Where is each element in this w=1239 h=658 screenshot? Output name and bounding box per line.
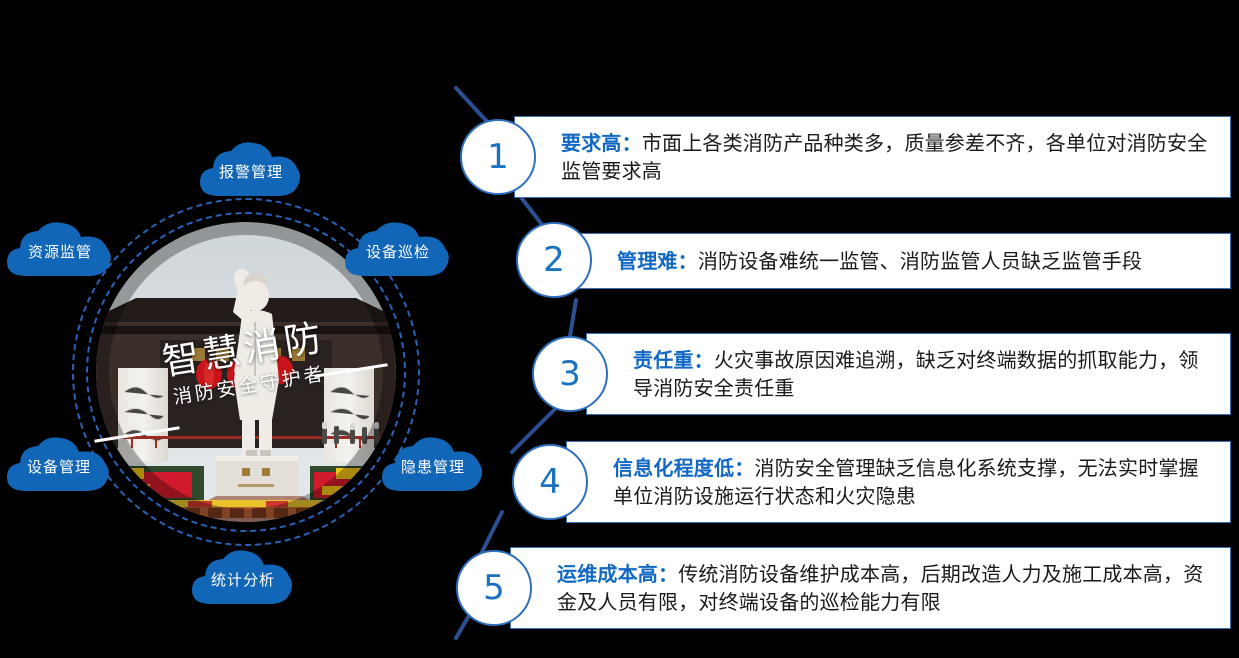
issue-bar[interactable]: 责任重：火灾事故原因难追溯，缺乏对终端数据的抓取能力，领导消防安全责任重 — [586, 333, 1231, 415]
issue-bar[interactable]: 运维成本高：传统消防设备维护成本高，后期改造人力及施工成本高，资金及人员有限，对… — [510, 547, 1231, 629]
issue-bar[interactable]: 信息化程度低：消防安全管理缺乏信息化系统支撑，无法实时掌握单位消防设施运行状态和… — [566, 441, 1231, 523]
issues-list: 要求高：市面上各类消防产品种类多，质量参差不齐，各单位对消防安全监管要求高 1 … — [440, 0, 1239, 658]
cloud-label: 设备管理 — [2, 435, 116, 497]
cloud-badge-resource-supervision[interactable]: 资源监管 — [2, 220, 118, 282]
issue-text: 运维成本高：传统消防设备维护成本高，后期改造人力及施工成本高，资金及人员有限，对… — [511, 560, 1230, 617]
issue-heading: 责任重： — [633, 348, 714, 372]
issue-number-2[interactable]: 2 — [516, 222, 592, 298]
issue-bar[interactable]: 管理难：消防设备难统一监管、消防监管人员缺乏监管手段 — [570, 233, 1231, 289]
cloud-label: 统计分析 — [188, 548, 298, 610]
issue-bar[interactable]: 要求高：市面上各类消防产品种类多，质量参差不齐，各单位对消防安全监管要求高 — [514, 116, 1231, 198]
issue-body: 消防设备难统一监管、消防监管人员缺乏监管手段 — [698, 249, 1142, 273]
issue-heading: 运维成本高： — [557, 562, 678, 586]
cloud-label: 报警管理 — [196, 140, 306, 204]
cloud-badge-device-management[interactable]: 设备管理 — [2, 435, 116, 497]
cloud-badge-alarm-management[interactable]: 报警管理 — [196, 140, 306, 202]
cloud-badge-device-inspection[interactable]: 设备巡检 — [340, 220, 456, 282]
issue-number-3[interactable]: 3 — [532, 336, 608, 412]
issue-text: 信息化程度低：消防安全管理缺乏信息化系统支撑，无法实时掌握单位消防设施运行状态和… — [567, 454, 1230, 511]
hero-circle-diagram: 智慧消防 消防安全守护者 报警管理 设备巡检 隐患管理 统计分析 设备管理 — [0, 150, 470, 630]
cloud-label: 设备巡检 — [340, 220, 456, 282]
infographic-canvas: 智慧消防 消防安全守护者 报警管理 设备巡检 隐患管理 统计分析 设备管理 — [0, 0, 1239, 658]
issue-body: 火灾事故原因难追溯，缺乏对终端数据的抓取能力，领导消防安全责任重 — [633, 348, 1199, 400]
issue-text: 责任重：火灾事故原因难追溯，缺乏对终端数据的抓取能力，领导消防安全责任重 — [587, 346, 1230, 403]
issue-heading: 要求高： — [561, 131, 642, 155]
issue-text: 管理难：消防设备难统一监管、消防监管人员缺乏监管手段 — [571, 247, 1158, 275]
issue-number-4[interactable]: 4 — [512, 444, 588, 520]
issue-body: 市面上各类消防产品种类多，质量参差不齐，各单位对消防安全监管要求高 — [561, 131, 1207, 183]
issue-number-5[interactable]: 5 — [456, 550, 532, 626]
cloud-badge-statistics-analysis[interactable]: 统计分析 — [188, 548, 298, 610]
issue-heading: 信息化程度低： — [613, 456, 754, 480]
issue-text: 要求高：市面上各类消防产品种类多，质量参差不齐，各单位对消防安全监管要求高 — [515, 129, 1230, 186]
issue-number-1[interactable]: 1 — [460, 119, 536, 195]
issue-heading: 管理难： — [617, 249, 698, 273]
cloud-label: 资源监管 — [2, 220, 118, 282]
